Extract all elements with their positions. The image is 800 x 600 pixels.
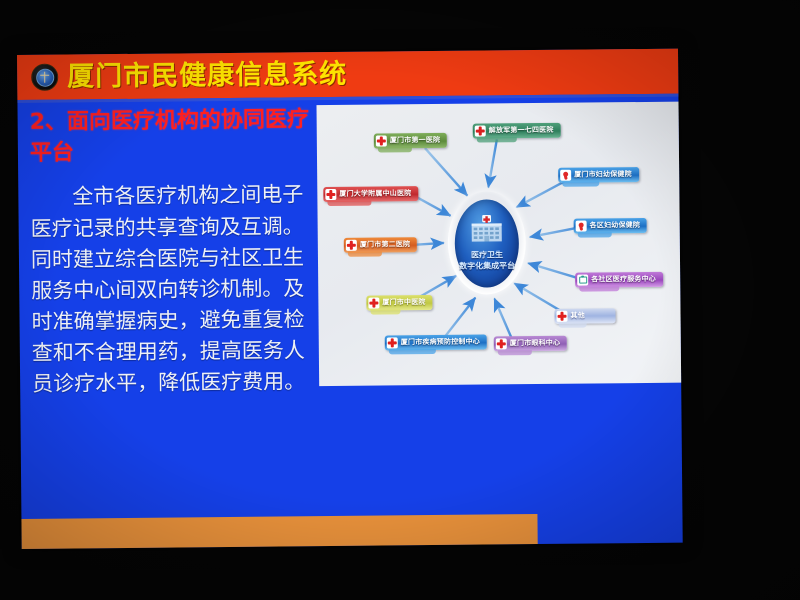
node-label: 厦门大学附属中山医院 xyxy=(339,190,411,198)
medical-cross-icon xyxy=(376,135,387,146)
medical-cross-icon xyxy=(475,126,486,137)
content-column: 2、面向医疗机构的协同医疗平台 全市各医疗机构之间电子医疗记录的共享查询及互调。… xyxy=(29,104,322,400)
maternal-care-icon xyxy=(576,221,587,232)
node-label: 各区妇幼保健院 xyxy=(590,222,640,229)
node-label: 其他 xyxy=(570,313,584,320)
node-label: 厦门市中医院 xyxy=(382,299,425,306)
node-xiamen-cdc[interactable]: 厦门市疾病预防控制中心 xyxy=(385,335,487,351)
section-heading: 2、面向医疗机构的协同医疗平台 xyxy=(29,104,320,169)
center-label-line2: 数字化集成平台 xyxy=(459,261,515,272)
node-label: 厦门市妇幼保健院 xyxy=(574,171,632,179)
central-platform-node: 医疗卫生 数字化集成平台 xyxy=(447,191,526,295)
section-body-text: 全市各医疗机构之间电子医疗记录的共享查询及互调。同时建立综合医院与社区卫生服务中… xyxy=(30,180,322,400)
node-label: 厦门市眼科中心 xyxy=(510,340,560,347)
node-label: 厦门市第一医院 xyxy=(390,137,440,144)
medical-cross-icon xyxy=(556,311,567,322)
node-xiamen-maternal-child-hospital[interactable]: 厦门市妇幼保健院 xyxy=(558,167,639,183)
center-label-line1: 医疗卫生 xyxy=(459,250,515,261)
hospital-building-icon xyxy=(468,213,506,243)
integration-diagram: 医疗卫生 数字化集成平台 厦门市第一医院 解放军第一七四医院 厦门市妇幼保健 xyxy=(316,102,681,386)
center-core: 医疗卫生 数字化集成平台 xyxy=(454,199,519,288)
node-district-maternal-child-hospitals[interactable]: 各区妇幼保健院 xyxy=(574,218,648,234)
page-title: 厦门市民健康信息系统 xyxy=(67,61,347,91)
node-community-medical-service-centers[interactable]: 各社区医疗服务中心 xyxy=(575,272,663,288)
emblem-badge-icon xyxy=(31,64,58,91)
node-xiamen-tcm-hospital[interactable]: 厦门市中医院 xyxy=(366,295,432,311)
medical-cross-icon xyxy=(325,189,336,200)
node-xiamen-first-hospital[interactable]: 厦门市第一医院 xyxy=(374,133,448,149)
node-zhongshan-hospital[interactable]: 厦门大学附属中山医院 xyxy=(323,186,418,202)
medical-cross-icon xyxy=(368,298,379,309)
node-pla-174-hospital[interactable]: 解放军第一七四医院 xyxy=(473,123,561,139)
medical-cross-icon xyxy=(346,240,357,251)
footer-accent-band xyxy=(21,514,537,549)
node-label: 解放军第一七四医院 xyxy=(489,127,554,135)
node-xiamen-second-hospital[interactable]: 厦门市第二医院 xyxy=(344,237,418,253)
community-center-icon xyxy=(577,275,588,286)
presentation-slide: 厦门市民健康信息系统 2、面向医疗机构的协同医疗平台 全市各医疗机构之间电子医疗… xyxy=(17,49,683,549)
node-other[interactable]: 其他 xyxy=(554,308,615,324)
maternal-care-icon xyxy=(560,170,571,181)
node-xiamen-eye-center[interactable]: 厦门市眼科中心 xyxy=(494,336,568,352)
projected-slide-photo: 厦门市民健康信息系统 2、面向医疗机构的协同医疗平台 全市各医疗机构之间电子医疗… xyxy=(0,0,800,600)
node-label: 厦门市第二医院 xyxy=(360,241,410,248)
node-label: 厦门市疾病预防控制中心 xyxy=(401,339,480,347)
medical-cross-icon xyxy=(496,338,507,349)
slide-header-bar: 厦门市民健康信息系统 xyxy=(17,49,678,100)
medical-cross-icon xyxy=(387,337,398,348)
node-label: 各社区医疗服务中心 xyxy=(591,276,656,284)
